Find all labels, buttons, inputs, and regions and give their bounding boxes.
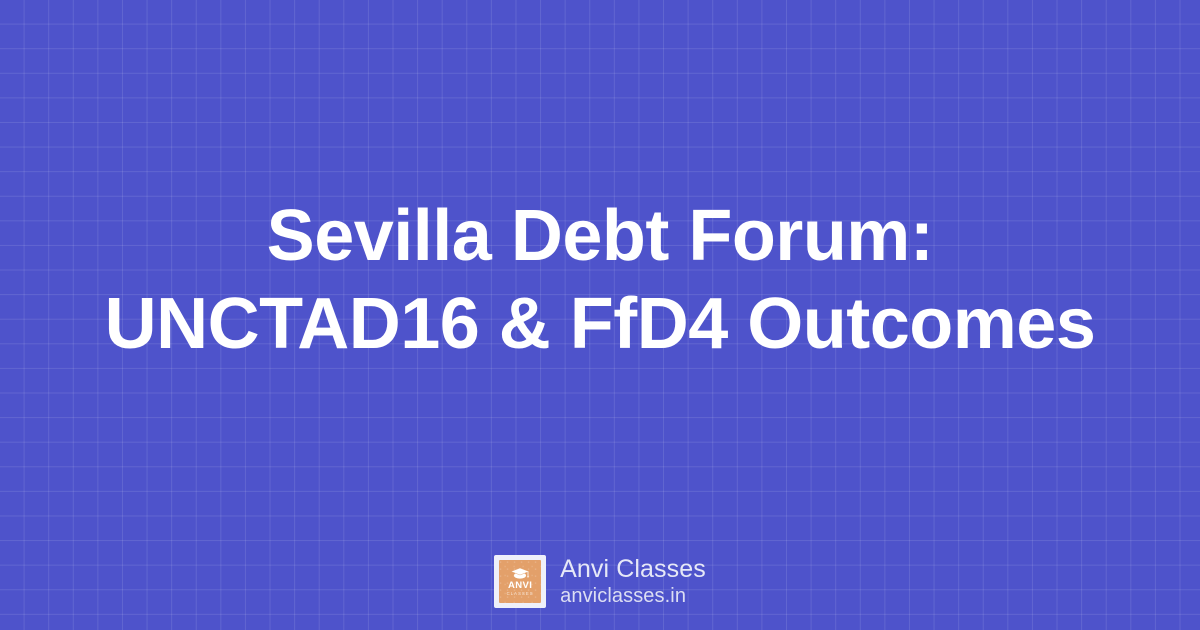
brand-footer: ANVI CLASSES Anvi Classes anviclasses.in <box>0 554 1200 608</box>
brand-logo: ANVI CLASSES <box>494 555 546 608</box>
brand-logo-subword: CLASSES <box>507 591 534 597</box>
page-title: Sevilla Debt Forum:UNCTAD16 & FfD4 Outco… <box>105 192 1096 368</box>
brand-text: Anvi Classes anviclasses.in <box>560 554 706 608</box>
page-title-line-1: Sevilla Debt Forum: <box>267 196 934 276</box>
brand-name: Anvi Classes <box>560 554 706 584</box>
page-title-line-2: UNCTAD16 & FfD4 Outcomes <box>105 284 1096 364</box>
graduation-cap-icon <box>510 567 530 580</box>
brand-logo-word: ANVI <box>508 581 532 591</box>
brand-logo-tile: ANVI CLASSES <box>499 560 541 603</box>
headline-block: Sevilla Debt Forum:UNCTAD16 & FfD4 Outco… <box>0 0 1200 630</box>
brand-url: anviclasses.in <box>560 584 706 608</box>
og-share-card: Sevilla Debt Forum:UNCTAD16 & FfD4 Outco… <box>0 0 1200 630</box>
